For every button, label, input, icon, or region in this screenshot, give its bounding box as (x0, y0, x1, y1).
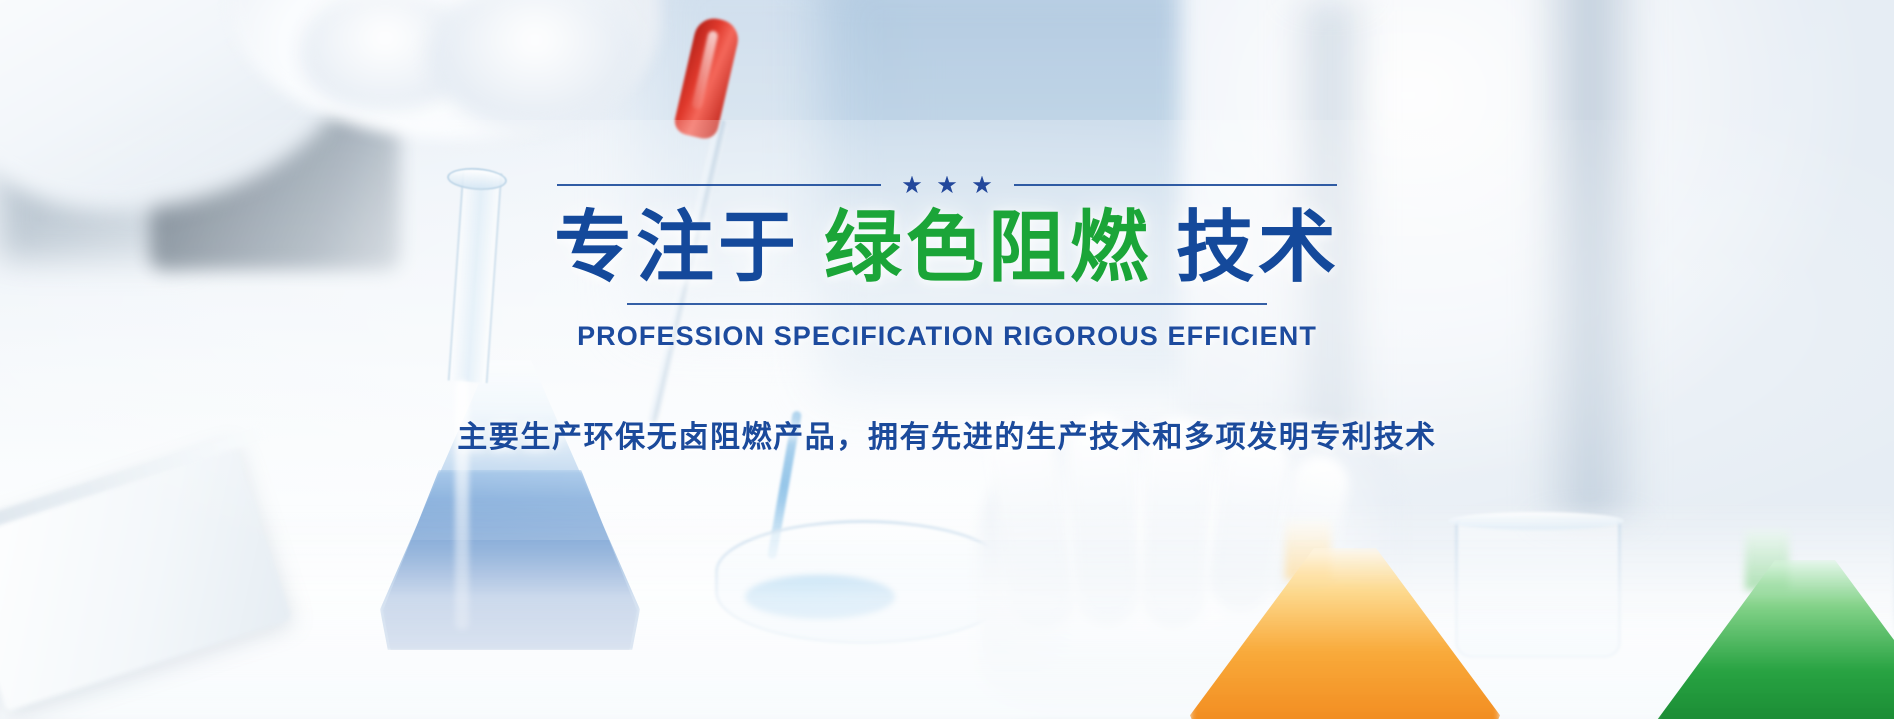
divider-line-right (1014, 184, 1338, 186)
star-icon (938, 176, 957, 195)
top-divider-with-stars (557, 174, 1337, 196)
star-icon (973, 176, 992, 195)
headline-part-2: 绿色阻燃 (824, 203, 1152, 291)
divider-line-left (557, 184, 881, 186)
banner-content: 专注于绿色阻燃技术 PROFESSION SPECIFICATION RIGOR… (0, 0, 1894, 719)
hero-banner: 专注于绿色阻燃技术 PROFESSION SPECIFICATION RIGOR… (0, 0, 1894, 719)
page-title: 专注于绿色阻燃技术 (554, 204, 1340, 291)
description-chinese: 主要生产环保无卤阻燃产品，拥有先进的生产技术和多项发明专利技术 (457, 412, 1437, 456)
subtitle-english: PROFESSION SPECIFICATION RIGOROUS EFFICI… (577, 321, 1317, 352)
headline-part-1: 专注于 (554, 203, 800, 291)
star-group (881, 176, 1014, 195)
bottom-divider-line (627, 303, 1267, 305)
star-icon (903, 176, 922, 195)
headline-part-3: 技术 (1176, 203, 1340, 291)
